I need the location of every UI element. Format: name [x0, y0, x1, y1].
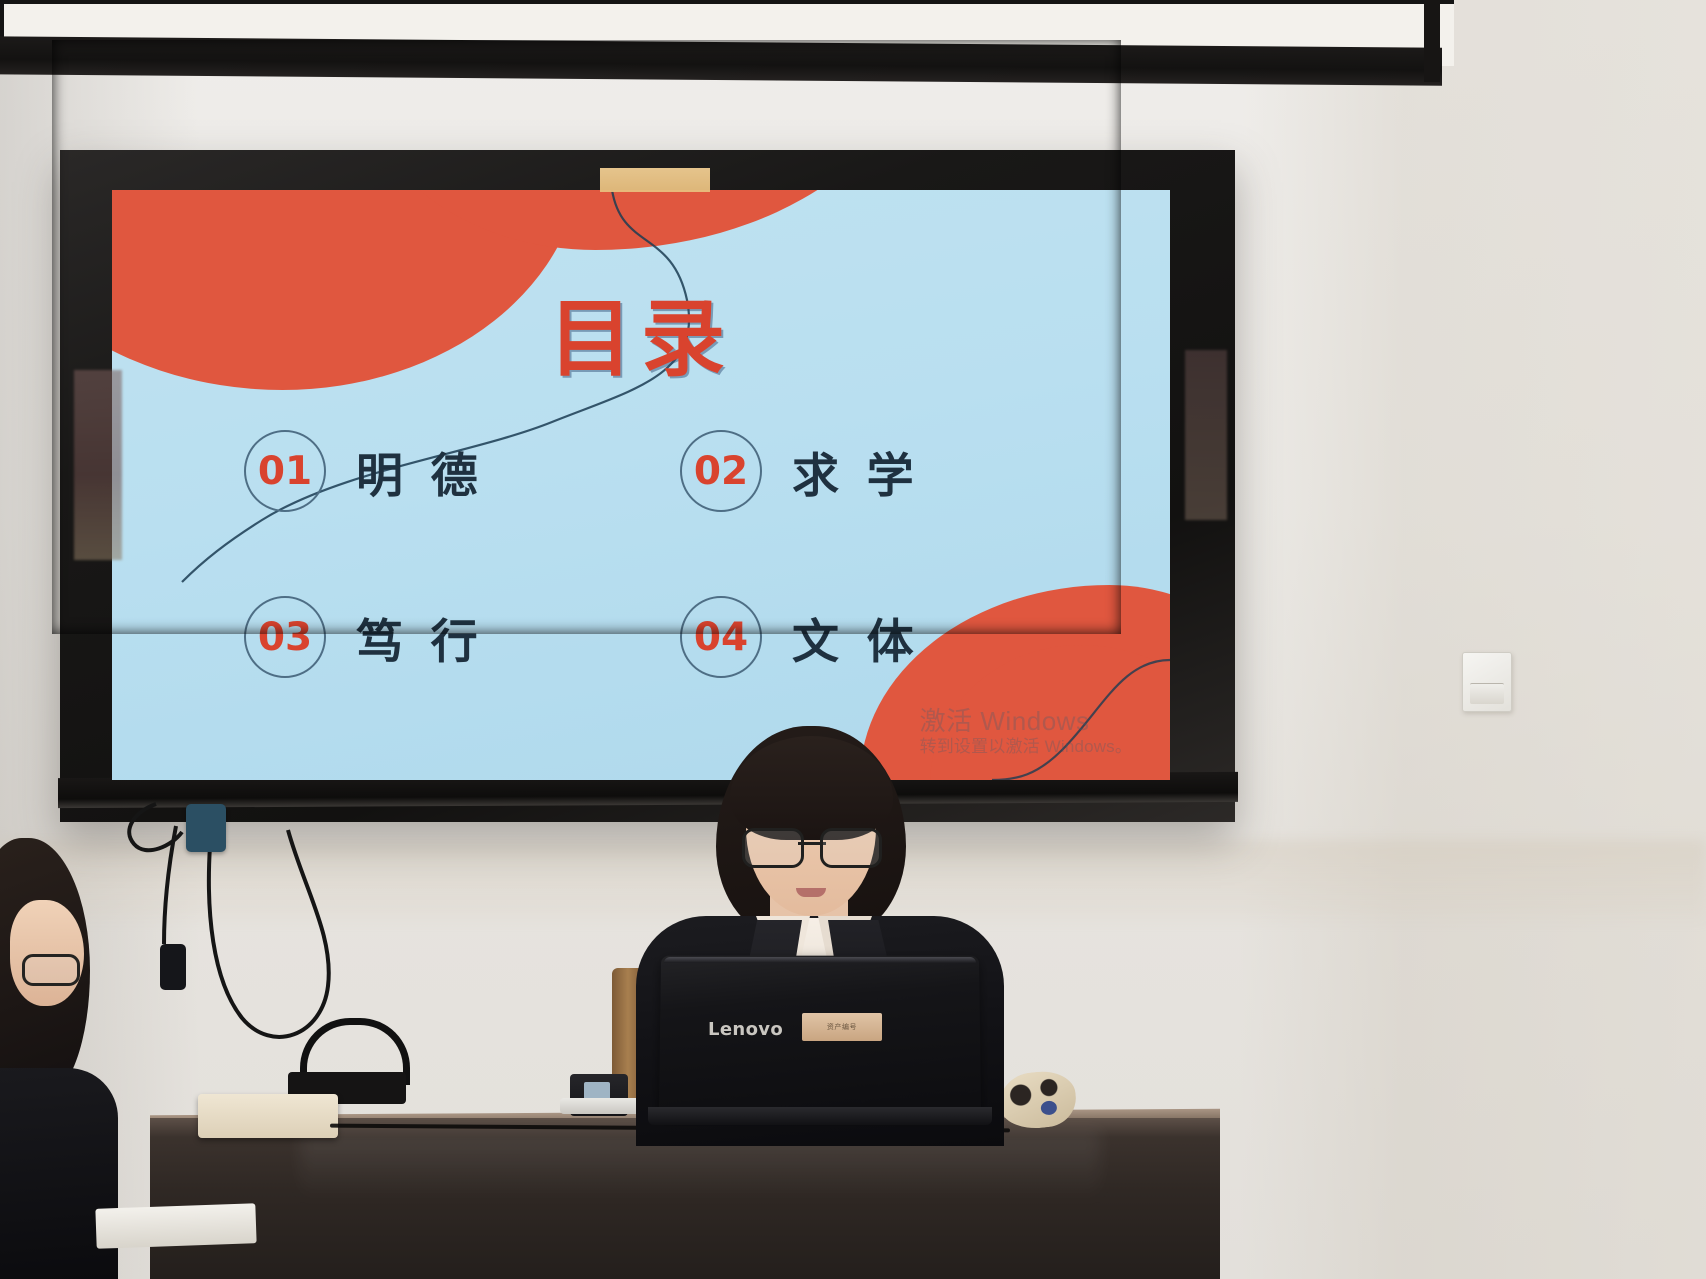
toc-label-03: 笃 行 [356, 603, 483, 672]
toc-label-01: 明 德 [356, 437, 483, 506]
left-person-glasses [22, 954, 80, 986]
reflected-poster-right [1185, 350, 1227, 520]
laptop[interactable]: Lenovo 资产编号 [660, 955, 980, 1130]
toc-item-01[interactable]: 01 明 德 [244, 430, 628, 512]
toc-item-02[interactable]: 02 求 学 [680, 430, 1064, 512]
toc-item-04[interactable]: 04 文 体 [680, 596, 1064, 678]
toc-item-03[interactable]: 03 笃 行 [244, 596, 628, 678]
presenter-glasses [742, 828, 882, 862]
reflected-poster-left [74, 370, 122, 560]
slide-title: 目录 [112, 272, 1170, 393]
wall-right-shading [1240, 0, 1706, 1279]
toc-number-01: 01 [244, 430, 326, 512]
light-switch-rocker[interactable] [1470, 683, 1504, 704]
white-box-item[interactable] [198, 1094, 338, 1138]
presentation-slide[interactable]: 目录 01 明 德 02 求 学 03 笃 行 04 文 体 激活 Window… [112, 190, 1170, 780]
glasses-lens-left [742, 828, 804, 868]
toc-number-02: 02 [680, 430, 762, 512]
laptop-base [648, 1107, 992, 1125]
left-person-face [10, 900, 84, 1006]
toc-label-02: 求 学 [792, 437, 919, 506]
slide-table-of-contents: 01 明 德 02 求 学 03 笃 行 04 文 体 [244, 430, 1064, 678]
glasses-lens-right [820, 828, 882, 868]
notebook[interactable] [95, 1203, 256, 1249]
toc-label-04: 文 体 [792, 603, 919, 672]
toc-number-03: 03 [244, 596, 326, 678]
presenter-mouth [796, 888, 826, 897]
tape-strip [600, 168, 710, 192]
cable-dongle [160, 944, 186, 990]
laptop-brand-logo: Lenovo [708, 1019, 783, 1040]
classroom-photo: 目录 01 明 德 02 求 学 03 笃 行 04 文 体 激活 Window… [0, 0, 1706, 1279]
light-switch[interactable] [1462, 652, 1512, 712]
plush-toy-eye [1040, 1100, 1057, 1116]
hdmi-connector-box [186, 804, 226, 852]
toc-number-04: 04 [680, 596, 762, 678]
laptop-lid-top-edge [664, 957, 976, 963]
upper-screen-right-edge [1424, 0, 1440, 82]
laptop-asset-tag: 资产编号 [802, 1013, 882, 1041]
